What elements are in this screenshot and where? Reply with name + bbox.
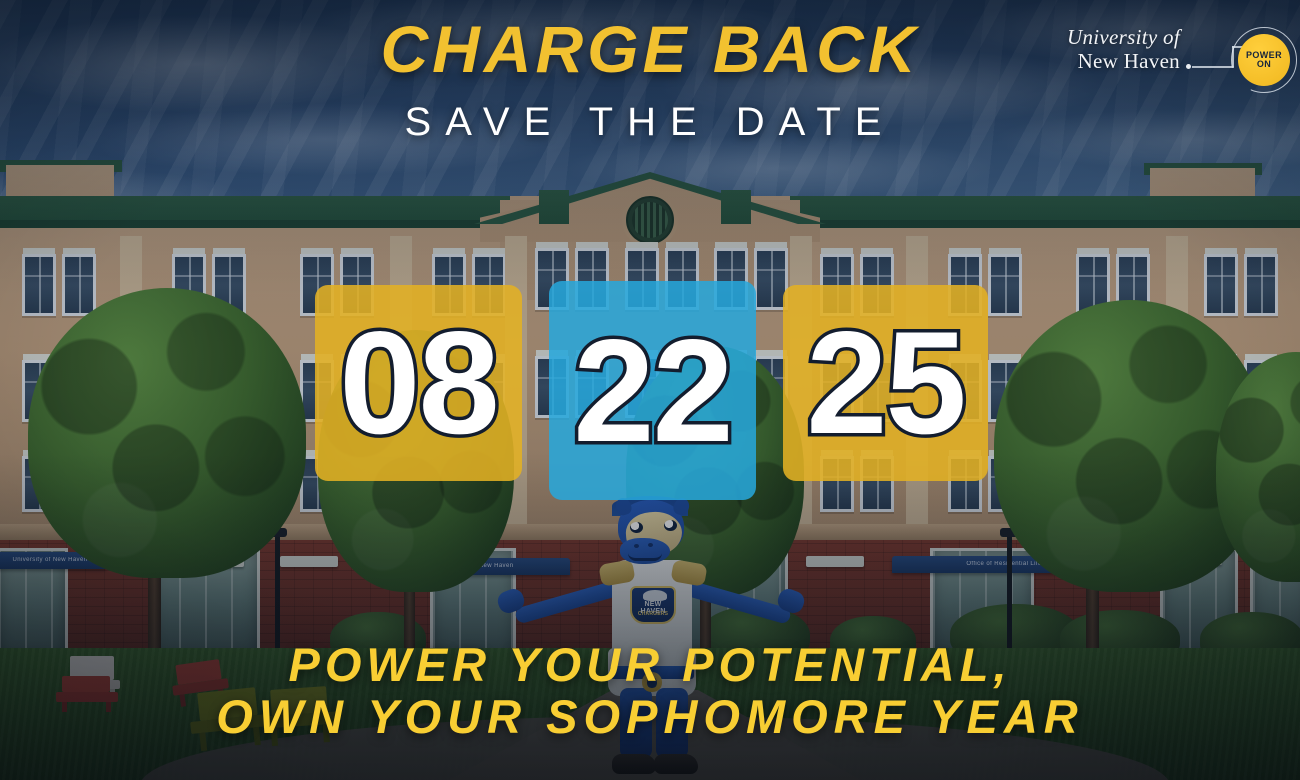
date-month-value: 08 bbox=[315, 310, 522, 456]
date-tile-month: 08 bbox=[315, 285, 522, 481]
poster-tagline: POWER YOUR POTENTIAL, OWN YOUR SOPHOMORE… bbox=[0, 639, 1300, 744]
date-tile-year: 25 bbox=[783, 285, 988, 481]
poster-content: CHARGE BACK SAVE THE DATE University of … bbox=[0, 0, 1300, 780]
tagline-line-2: OWN YOUR SOPHOMORE YEAR bbox=[0, 691, 1300, 744]
date-year-value: 25 bbox=[783, 310, 988, 456]
save-the-date-poster: University of New Haven University of Ne… bbox=[0, 0, 1300, 780]
date-day-value: 22 bbox=[549, 318, 756, 464]
tagline-line-1: POWER YOUR POTENTIAL, bbox=[0, 639, 1300, 692]
date-tile-day: 22 bbox=[549, 281, 756, 500]
